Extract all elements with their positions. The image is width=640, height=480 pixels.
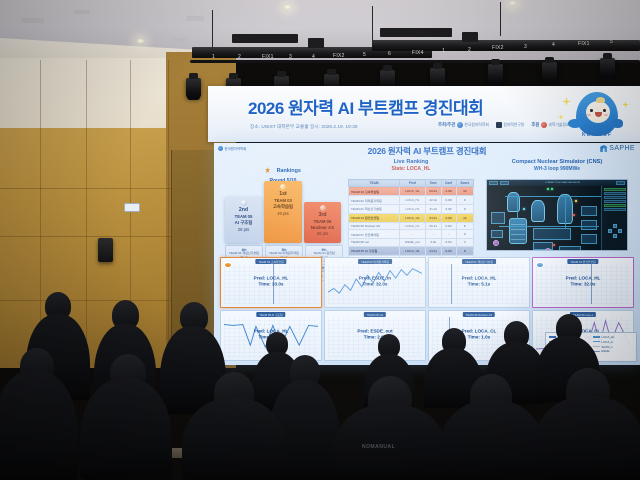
cns-side-button[interactable] xyxy=(604,192,626,195)
podium-points: 26 pts xyxy=(317,231,328,236)
stage-light xyxy=(600,58,615,78)
table-row: TEAM 01 핵심신기술팀 LOCA_HL 31.2s 0.96 9 xyxy=(349,204,474,213)
cell-team: TEAM 06 Nuclear AS xyxy=(349,222,400,230)
condenser-module xyxy=(533,228,571,240)
society-logo-label: 한국원자력학회 xyxy=(225,146,247,151)
control-module xyxy=(491,230,503,238)
cell-pred: ESDE_out xyxy=(400,239,426,247)
steam-generator-2 xyxy=(531,200,545,222)
podium-team-name: 고속학습팀 xyxy=(273,204,293,210)
cell-time: 34.0s xyxy=(425,213,441,222)
podium-place-3: 3rd TEAM 06 Nuclear AS 26 pts xyxy=(304,202,341,243)
live-ranking-heading: Live Ranking xyxy=(346,159,476,165)
cell-score: 9 xyxy=(456,204,473,213)
dpad-down[interactable] xyxy=(613,234,617,238)
cns-side-button[interactable] xyxy=(604,200,626,203)
cell-score: 10 xyxy=(456,213,473,222)
screen-logo-right: SAPHE xyxy=(600,145,635,152)
stage-light xyxy=(488,64,503,84)
cell-conf: 0.88 xyxy=(441,213,456,222)
mascot: KONICOF xyxy=(556,87,634,141)
coolant-pump xyxy=(545,248,551,251)
table-row: TEAM 02 미래원자력팀 LOCA_HL 32.0s 0.98 9 xyxy=(349,196,474,205)
cell-score: 0 xyxy=(456,230,473,239)
truss-pipe xyxy=(190,60,640,63)
podium-place-label: 1st xyxy=(279,191,287,197)
truss-marker: 2 xyxy=(238,54,241,60)
table-header-row: TEAM Pred Time Conf Score xyxy=(349,180,474,187)
sparkle-icon xyxy=(558,114,564,120)
cell-conf: 0.63 xyxy=(441,239,456,247)
person-silhouette xyxy=(182,398,286,480)
truss-marker: FIX2 xyxy=(492,45,504,51)
table-row: TEAM 04 원전안전팀 LOCA_HL 34.0s 0.88 10 xyxy=(349,213,474,222)
col-pred: Pred xyxy=(400,180,426,187)
cns-side-button[interactable] xyxy=(604,188,626,191)
ceiling-vent xyxy=(22,18,44,23)
riser-pipe xyxy=(517,196,518,220)
truss-marker: FIX2 xyxy=(333,53,345,59)
sponsor-org: 한국원자력학회 xyxy=(464,123,488,128)
table-row: TEAM 08 net ESDE_out 3.0s 0.63 3 xyxy=(349,239,474,247)
cell-conf: 0.96 xyxy=(441,204,456,213)
rankings-column: Rankings Round 5/10 2nd TEAM 05 AI 구조팀 2… xyxy=(222,159,344,184)
cell-pred: LOCA_HL xyxy=(400,196,426,205)
truss-marker: 1 xyxy=(212,54,215,60)
truss-marker: 2 xyxy=(468,47,471,53)
table-row: TEAM 06 Nuclear AS LOCA_CL 29.1s 0.82 6 xyxy=(349,222,474,230)
cns-dpad[interactable] xyxy=(608,224,622,238)
ceiling-downlight xyxy=(136,38,145,44)
sponsor-logo-icon xyxy=(457,122,463,128)
col-conf: Conf xyxy=(441,180,456,187)
status-led-green xyxy=(547,188,549,190)
cns-header: Compact Nuclear Simulator (CNS) WH-3 loo… xyxy=(480,159,634,172)
cell-team: TEAM 07 안전해석팀 xyxy=(349,230,400,239)
event-banner: 2026 원자력 AI 부트캠프 경진대회 장소: UNIST 대학본부 교룡홀… xyxy=(208,86,640,142)
screen-logo-left: 한국원자력학회 xyxy=(218,146,246,151)
status-led-red xyxy=(573,214,575,216)
podium-place-label: 3rd xyxy=(318,212,326,218)
sponsor-logo-icon xyxy=(541,122,547,128)
mascot-hair xyxy=(596,97,605,103)
col-score: Score xyxy=(456,180,473,187)
light-hanger xyxy=(500,2,501,36)
dpad-right[interactable] xyxy=(618,229,622,233)
audience: NOMANUAL xyxy=(0,270,640,480)
podium-place-2: 2nd TEAM 05 AI 구조팀 28 pts xyxy=(225,197,262,243)
status-led-green xyxy=(551,188,553,190)
table-row: TEAM 07 안전해석팀 - - - 0 xyxy=(349,230,474,239)
live-ranking-header: Live Ranking State: LOCA_HL xyxy=(346,159,476,172)
sparkle-icon xyxy=(562,97,571,106)
truss-marker: 5 xyxy=(610,39,613,45)
mascot-arm-right xyxy=(611,119,623,128)
live-ranking-state: State: LOCA_HL xyxy=(346,166,476,172)
cns-toolbar-button[interactable] xyxy=(500,181,509,184)
podium: 2nd TEAM 05 AI 구조팀 28 pts 1st TEAM 03 고속… xyxy=(225,181,341,243)
truss-marker: FIX4 xyxy=(412,50,424,56)
cell-score: 6 xyxy=(456,222,473,230)
sponsor-logo-icon xyxy=(496,122,502,128)
cell-conf: 0.90 xyxy=(441,246,456,255)
main-steam-pipe xyxy=(505,196,601,197)
feedwater-pipe xyxy=(499,226,599,227)
cell-pred: LOCA_HL xyxy=(400,187,426,196)
cell-score: 9 xyxy=(456,196,473,205)
rankings-heading: Rankings xyxy=(277,168,301,174)
podium-place-label: 2nd xyxy=(239,207,248,213)
reactor-pressure-vessel xyxy=(509,218,527,244)
riser-pipe xyxy=(565,196,566,228)
cns-side-button[interactable] xyxy=(604,204,626,207)
dpad-left[interactable] xyxy=(608,229,612,233)
table-row: TEAM 03 고속학습팀 LOCA_HL 33.0s 0.99 10 xyxy=(349,187,474,196)
ceiling-downlight xyxy=(508,0,517,6)
sponsor-org: 원자력연구원 xyxy=(503,123,524,128)
table-row: TEAM 05 AI 구조팀 LOCA_HL 34.4s 0.90 8 xyxy=(349,246,474,255)
indicator-bank xyxy=(559,246,581,251)
cell-conf: 0.82 xyxy=(441,222,456,230)
status-led-cyan xyxy=(523,208,525,210)
stage-light xyxy=(186,78,201,98)
cell-score: 8 xyxy=(456,246,473,255)
cell-time: 31.2s xyxy=(425,204,441,213)
cns-heading: Compact Nuclear Simulator (CNS) xyxy=(480,159,634,165)
person-silhouette xyxy=(334,404,446,480)
cell-time: 33.0s xyxy=(425,187,441,196)
stage-light xyxy=(430,68,445,88)
jacket-text: NOMANUAL xyxy=(362,444,395,450)
card-team-tag: TEAM 04 원전안전팀 xyxy=(567,259,598,264)
truss-marker: 5 xyxy=(363,52,366,58)
podium-team-name: AI 구조팀 xyxy=(235,220,253,226)
light-hanger xyxy=(372,6,373,42)
cns-subheading: WH-3 loop 990MWe xyxy=(480,166,634,172)
cell-time: 29.1s xyxy=(425,222,441,230)
cns-toolbar-button[interactable] xyxy=(489,181,498,184)
cns-toolbar-button[interactable] xyxy=(616,181,625,184)
mascot-eye-left xyxy=(590,109,593,112)
cell-pred: LOCA_HL xyxy=(400,213,426,222)
cns-diagram xyxy=(487,186,601,250)
feedwater-module xyxy=(581,206,597,216)
wall-notice-sign xyxy=(124,203,140,212)
truss-junction-box xyxy=(462,32,478,42)
cell-score: 3 xyxy=(456,239,473,247)
podium-team: TEAM 06 xyxy=(314,219,332,224)
truss-junction-box xyxy=(232,34,298,43)
podium-points: 28 pts xyxy=(238,227,249,232)
ceiling-vent xyxy=(186,16,204,21)
cell-conf: 0.99 xyxy=(441,187,456,196)
cell-conf: - xyxy=(441,230,456,239)
card-team-tag: TEAM 02 미래원자력팀 xyxy=(358,259,392,264)
ceiling-downlight xyxy=(283,4,292,10)
society-logo-icon xyxy=(218,146,223,151)
rank-badge-icon xyxy=(536,262,544,268)
truss-junction-box xyxy=(380,28,452,37)
cell-time: 3.0s xyxy=(425,239,441,247)
ceiling-vent xyxy=(74,10,90,14)
cell-conf: 0.98 xyxy=(441,196,456,205)
card-team-tag: TEAM 03 고속학습팀 xyxy=(255,259,286,264)
wall-speaker xyxy=(98,238,113,262)
podium-team-name: Nuclear AS xyxy=(311,225,334,230)
status-led-amber xyxy=(575,200,577,202)
cns-panel-title: COMPACT NUCLEAR SIMULATOR xyxy=(545,182,580,184)
person-silhouette xyxy=(80,378,172,480)
banner-title: 2026 원자력 AI 부트캠프 경진대회 xyxy=(248,94,483,119)
medal-icon xyxy=(241,200,247,206)
cell-time: - xyxy=(425,230,441,239)
col-time: Time xyxy=(425,180,441,187)
truss-marker: 3 xyxy=(524,44,527,50)
sponsor-label: 후원 xyxy=(531,122,539,128)
cns-mimic-panel: COMPACT NUCLEAR SIMULATOR xyxy=(486,179,628,251)
mascot-arm-left xyxy=(568,119,581,128)
mascot-eye-right xyxy=(603,109,606,112)
status-led-red xyxy=(553,244,555,246)
cell-time: 34.4s xyxy=(425,246,441,255)
podium-place-1: 1st TEAM 03 고속학습팀 40 pts xyxy=(264,181,302,243)
cell-team: TEAM 02 미래원자력팀 xyxy=(349,196,400,205)
mascot-name-label: KONICOF xyxy=(582,132,612,138)
banner-subinfo: 장소: UNIST 대학본부 교룡홀 일시: 2026.2.19. 19:30 xyxy=(250,124,358,130)
truss-marker: FIX1 xyxy=(578,41,590,47)
saphe-logo-icon xyxy=(600,145,607,152)
sponsor-item: 주최/주관 한국원자력학회 xyxy=(438,122,489,128)
cns-side-button[interactable] xyxy=(604,208,626,211)
feedwater-module xyxy=(581,220,597,230)
sparkle-icon xyxy=(622,101,629,108)
aux-module xyxy=(491,212,505,224)
podium-team: TEAM 03 xyxy=(274,198,292,203)
medal-icon xyxy=(320,205,326,211)
dpad-up[interactable] xyxy=(613,224,617,228)
aux-module xyxy=(581,234,597,244)
person-silhouette xyxy=(534,396,640,480)
cns-side-button[interactable] xyxy=(604,196,626,199)
truss-marker: FIX1 xyxy=(262,54,274,60)
truss-marker: 3 xyxy=(289,54,292,60)
rank-badge-icon xyxy=(224,262,232,268)
saphe-logo-label: SAPHE xyxy=(609,145,635,152)
cell-team: TEAM 08 net xyxy=(349,239,400,247)
cell-team: TEAM 04 원전안전팀 xyxy=(349,213,400,222)
screen-title: 2026 원자력 AI 부트캠프 경진대회 xyxy=(368,145,487,157)
medal-icon xyxy=(280,184,286,190)
truss-marker: 4 xyxy=(312,54,315,60)
cns-control-sidebar xyxy=(601,186,627,250)
cell-score: 10 xyxy=(456,187,473,196)
cell-team: TEAM 05 AI 구조팀 xyxy=(349,246,400,255)
truss-marker: 4 xyxy=(552,42,555,48)
stage-light xyxy=(542,62,557,82)
steam-generator-1 xyxy=(507,192,520,212)
light-hanger xyxy=(212,10,213,50)
truss-junction-box xyxy=(308,38,324,48)
sponsor-label: 주최/주관 xyxy=(438,122,455,128)
live-ranking-table: TEAM Pred Time Conf Score TEAM 03 고속학습팀 … xyxy=(348,179,474,263)
podium-points: 40 pts xyxy=(277,211,288,216)
trophy-icon xyxy=(265,167,270,173)
scene-photo: 1 2 FIX1 3 4 FIX2 5 6 FIX4 1 2 FIX2 3 4 … xyxy=(0,0,640,480)
col-team: TEAM xyxy=(349,180,400,187)
screen-header: 2026 원자력 AI 부트캠프 경진대회 xyxy=(214,143,640,158)
cell-pred: LOCA_CL xyxy=(400,222,426,230)
cell-team: TEAM 03 고속학습팀 xyxy=(349,187,400,196)
coolant-pump xyxy=(493,240,499,246)
cell-pred: LOCA_HL xyxy=(400,204,426,213)
cell-time: 32.0s xyxy=(425,196,441,205)
cell-pred: LOCA_HL xyxy=(400,246,426,255)
person-silhouette xyxy=(440,400,544,480)
truss-marker: 1 xyxy=(442,48,445,54)
card-team-tag: TEAM 01 핵심신기술팀 xyxy=(462,259,496,264)
truss-marker: 6 xyxy=(388,51,391,57)
cell-team: TEAM 01 핵심신기술팀 xyxy=(349,204,400,213)
cell-pred: - xyxy=(400,230,426,239)
sponsor-item: 원자력연구원 xyxy=(496,122,524,128)
podium-team: TEAM 05 xyxy=(235,214,253,219)
ceiling-vent xyxy=(172,38,188,42)
